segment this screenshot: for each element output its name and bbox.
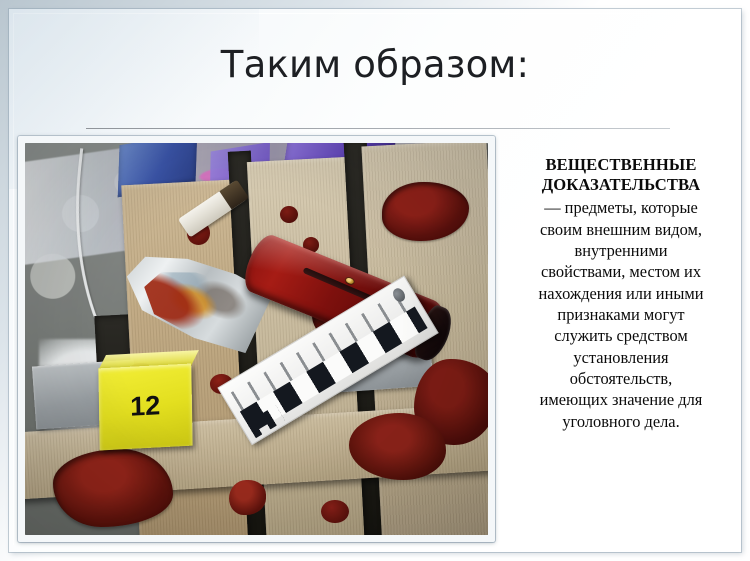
evidence-marker-number: 12 bbox=[130, 392, 160, 421]
definition-line: — предметы, которые bbox=[503, 197, 739, 218]
crime-scene-photo: 12 bbox=[25, 143, 488, 535]
definition-text: ВЕЩЕСТВЕННЫЕ ДОКАЗАТЕЛЬСТВА — предметы, … bbox=[503, 155, 739, 432]
blood-pool-left bbox=[53, 449, 173, 527]
definition-line: своим внешним видом, bbox=[503, 219, 739, 240]
definition-line: установления bbox=[503, 347, 739, 368]
page-title: Таким образом: bbox=[0, 44, 750, 85]
definition-line: нахождения или иными bbox=[503, 283, 739, 304]
blood-drop-1 bbox=[229, 480, 266, 515]
evidence-marker: 12 bbox=[98, 364, 192, 451]
definition-line: свойствами, местом их bbox=[503, 261, 739, 282]
definition-heading-line-2: ДОКАЗАТЕЛЬСТВА bbox=[503, 175, 739, 195]
definition-body: — предметы, которые своим внешним видом,… bbox=[503, 197, 739, 432]
definition-line: внутренними bbox=[503, 240, 739, 261]
crime-scene-photo-frame: 12 bbox=[18, 136, 495, 542]
definition-line: обстоятельств, bbox=[503, 368, 739, 389]
definition-line: уголовного дела. bbox=[503, 411, 739, 432]
evidence-marker-face: 12 bbox=[98, 364, 192, 451]
definition-heading-line-1: ВЕЩЕСТВЕННЫЕ bbox=[503, 155, 739, 175]
definition-line: имеющих значение для bbox=[503, 389, 739, 410]
title-divider bbox=[86, 128, 670, 129]
definition-line: признаками могут bbox=[503, 304, 739, 325]
photo-scene: 12 bbox=[25, 143, 488, 535]
slide: Таким образом: bbox=[0, 0, 750, 561]
definition-line: служить средством bbox=[503, 325, 739, 346]
